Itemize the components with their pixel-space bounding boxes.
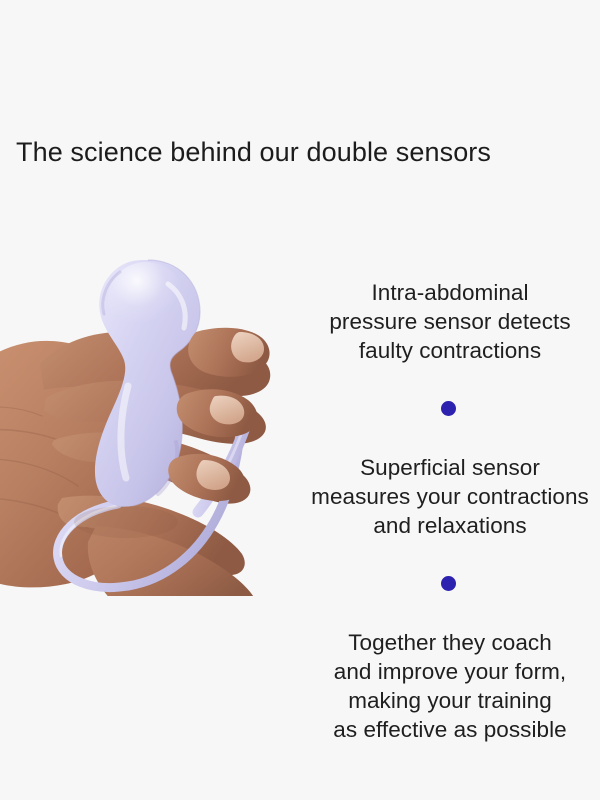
feature-superficial-sensor: Superficial sensor measures your contrac… bbox=[300, 453, 600, 540]
bullet-dot-icon bbox=[441, 401, 456, 416]
page-title: The science behind our double sensors bbox=[16, 135, 576, 169]
feature-together-they-coach: Together they coach and improve your for… bbox=[300, 628, 600, 744]
feature-intra-abdominal-pressure-sensor: Intra-abdominal pressure sensor detects … bbox=[300, 278, 600, 365]
feature-separator-1 bbox=[298, 387, 598, 430]
product-photo-hand-holding-device bbox=[0, 236, 300, 596]
marketing-panel: The science behind our double sensors bbox=[0, 0, 600, 800]
feature-list: Intra-abdominal pressure sensor detects … bbox=[300, 255, 600, 766]
feature-separator-2 bbox=[298, 562, 598, 605]
bullet-dot-icon bbox=[441, 576, 456, 591]
